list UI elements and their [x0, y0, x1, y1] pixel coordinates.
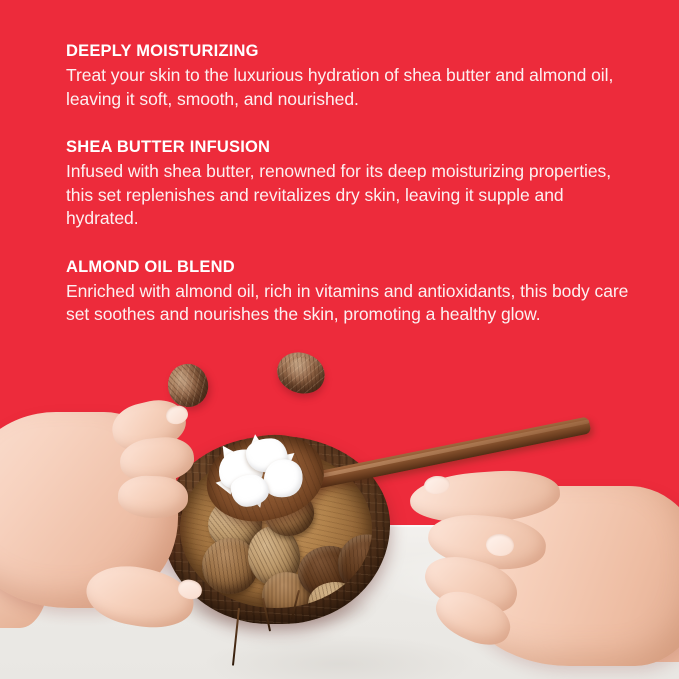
feature-body: Enriched with almond oil, rich in vitami…	[66, 280, 636, 327]
feature-deeply-moisturizing: DEEPLY MOISTURIZING Treat your skin to t…	[66, 40, 636, 111]
feature-title: DEEPLY MOISTURIZING	[66, 40, 636, 62]
right-hand	[398, 468, 679, 679]
nutmeg-seed-right	[271, 345, 330, 400]
feature-body: Infused with shea butter, renowned for i…	[66, 160, 636, 231]
feature-title: SHEA BUTTER INFUSION	[66, 136, 636, 158]
feature-shea-butter-infusion: SHEA BUTTER INFUSION Infused with shea b…	[66, 136, 636, 231]
feature-copy-block: DEEPLY MOISTURIZING Treat your skin to t…	[66, 40, 636, 327]
feature-title: ALMOND OIL BLEND	[66, 256, 636, 278]
left-hand	[0, 392, 210, 679]
product-feature-panel: DEEPLY MOISTURIZING Treat your skin to t…	[0, 0, 679, 679]
feature-almond-oil-blend: ALMOND OIL BLEND Enriched with almond oi…	[66, 256, 636, 327]
product-lifestyle-photo	[0, 340, 679, 679]
feature-body: Treat your skin to the luxurious hydrati…	[66, 64, 636, 111]
